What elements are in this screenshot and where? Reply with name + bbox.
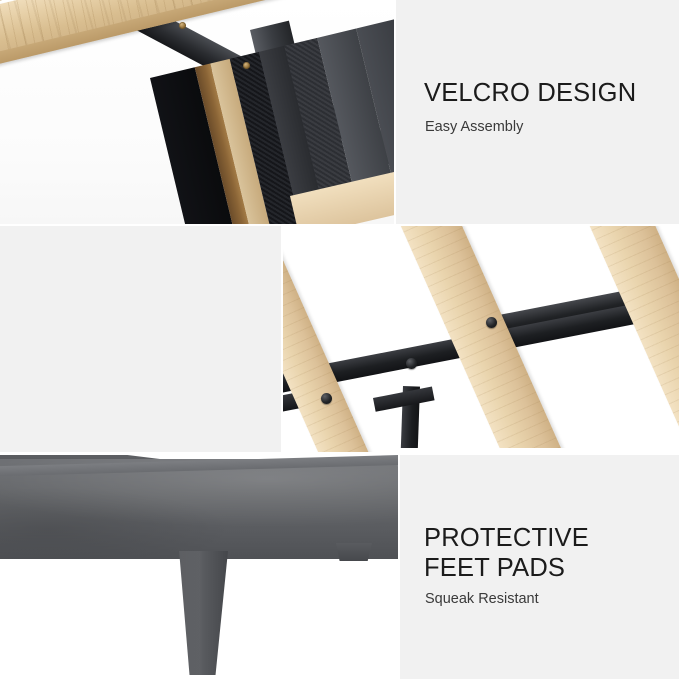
- feature-heading-velcro: VELCRO DESIGN: [424, 78, 636, 108]
- wood-slat: [283, 226, 389, 452]
- feature-subheading-feet: Squeak Resistant: [425, 591, 539, 607]
- text-panel-foam: SOFT FOAM PAD Anti-noise: [0, 226, 281, 452]
- bed-leg-front: [176, 551, 228, 675]
- bed-leg-rear: [336, 543, 372, 561]
- photo-panel-feet: [0, 455, 398, 679]
- bolt-head: [406, 358, 417, 369]
- photo-panel-slats: [283, 226, 679, 452]
- wood-slat: [563, 226, 679, 452]
- infographic-canvas: VELCRO DESIGN Easy Assembly SOFT FOAM PA…: [0, 0, 679, 679]
- text-panel-feet: PROTECTIVE FEET PADS Squeak Resistant: [400, 455, 679, 679]
- bolt-head: [486, 317, 497, 328]
- wood-grain: [283, 226, 389, 452]
- feature-heading-feet: PROTECTIVE FEET PADS: [424, 523, 589, 583]
- screw-head: [243, 62, 250, 69]
- bolt-head: [321, 393, 332, 404]
- leg-sheen: [176, 551, 228, 675]
- wood-grain: [563, 226, 679, 452]
- screw-head: [179, 22, 186, 29]
- photo-panel-velcro: [0, 0, 394, 224]
- feature-subheading-velcro: Easy Assembly: [425, 119, 523, 135]
- panel-gutter: [400, 448, 679, 455]
- text-panel-velcro: VELCRO DESIGN Easy Assembly: [396, 0, 679, 224]
